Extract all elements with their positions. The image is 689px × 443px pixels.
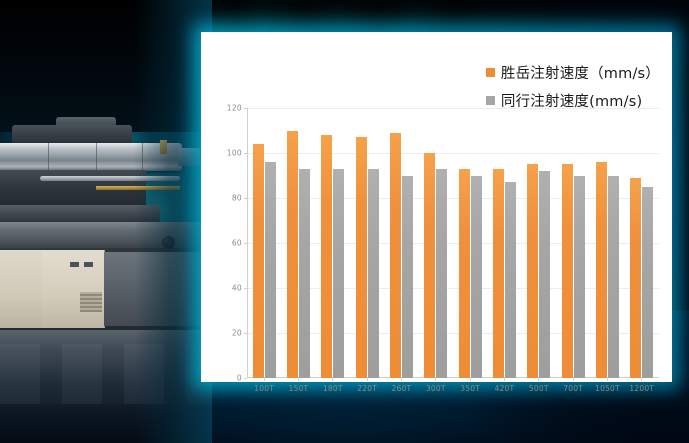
- x-tick-label: 420T: [487, 384, 521, 393]
- x-tick-mark: [332, 378, 333, 381]
- x-tick-label: 300T: [419, 384, 453, 393]
- bar-peer[interactable]: [402, 176, 413, 379]
- machine-indicator-2: [84, 262, 93, 267]
- bar-group: [562, 108, 585, 378]
- machine-vent-grille: [80, 292, 102, 312]
- bar-peer[interactable]: [642, 187, 653, 378]
- bar-peer[interactable]: [368, 169, 379, 378]
- bar-group: [596, 108, 619, 378]
- x-tick-mark: [264, 378, 265, 381]
- legend-swatch-orange: [486, 68, 495, 77]
- x-tick-label: 180T: [316, 384, 350, 393]
- y-tick-label: 60: [232, 239, 242, 248]
- machine-indicator-1: [70, 262, 79, 267]
- bar-group: [493, 108, 516, 378]
- injection-molding-machine-photo: [0, 0, 212, 443]
- bar-group: [253, 108, 276, 378]
- x-tick-mark: [367, 378, 368, 381]
- bar-shengyue[interactable]: [356, 137, 367, 378]
- x-tick-label: 1200T: [625, 384, 659, 393]
- x-tick-label: 150T: [281, 384, 315, 393]
- bar-group: [527, 108, 550, 378]
- bar-group: [321, 108, 344, 378]
- bar-peer[interactable]: [539, 171, 550, 378]
- x-tick-label: 260T: [384, 384, 418, 393]
- bar-peer[interactable]: [574, 176, 585, 379]
- y-tick-label: 0: [237, 374, 242, 383]
- x-axis-tick-marks: [247, 378, 659, 381]
- x-tick-mark: [435, 378, 436, 381]
- bar-peer[interactable]: [265, 162, 276, 378]
- x-tick-mark: [538, 378, 539, 381]
- bar-group: [424, 108, 447, 378]
- x-tick-label: 500T: [522, 384, 556, 393]
- x-tick-label: 350T: [453, 384, 487, 393]
- bar-shengyue[interactable]: [390, 133, 401, 378]
- bar-group: [356, 108, 379, 378]
- legend-swatch-gray: [486, 96, 495, 105]
- bar-peer[interactable]: [299, 169, 310, 378]
- x-tick-mark: [641, 378, 642, 381]
- y-tick-label: 20: [232, 329, 242, 338]
- bar-group: [630, 108, 653, 378]
- x-tick-mark: [573, 378, 574, 381]
- screenshot-stage: 胜岳注射速度（mm/s） 同行注射速度(mm/s) 02040608010012…: [0, 0, 689, 443]
- bar-peer[interactable]: [608, 176, 619, 379]
- bar-shengyue[interactable]: [596, 162, 607, 378]
- bar-shengyue[interactable]: [630, 178, 641, 378]
- y-tick-label: 80: [232, 194, 242, 203]
- y-tick-label: 120: [227, 104, 242, 113]
- x-tick-label: 1050T: [590, 384, 624, 393]
- bar-shengyue[interactable]: [459, 169, 470, 378]
- bar-peer[interactable]: [436, 169, 447, 378]
- legend-item-series-1[interactable]: 胜岳注射速度（mm/s）: [486, 62, 660, 83]
- bar-shengyue[interactable]: [424, 153, 435, 378]
- x-axis-labels: 100T150T180T220T260T300T350T420T500T700T…: [247, 384, 659, 393]
- x-tick-mark: [401, 378, 402, 381]
- bar-series-container: [247, 108, 659, 378]
- bar-shengyue[interactable]: [321, 135, 332, 378]
- bar-group: [287, 108, 310, 378]
- chart-panel: 胜岳注射速度（mm/s） 同行注射速度(mm/s) 02040608010012…: [201, 32, 672, 382]
- x-tick-mark: [470, 378, 471, 381]
- y-tick-label: 40: [232, 284, 242, 293]
- bar-peer[interactable]: [505, 182, 516, 378]
- bar-group: [390, 108, 413, 378]
- y-tick-label: 100: [227, 149, 242, 158]
- x-tick-mark: [607, 378, 608, 381]
- bar-shengyue[interactable]: [493, 169, 504, 378]
- bar-shengyue[interactable]: [562, 164, 573, 378]
- bar-group: [459, 108, 482, 378]
- chart-legend: 胜岳注射速度（mm/s） 同行注射速度(mm/s): [486, 62, 660, 111]
- bar-peer[interactable]: [333, 169, 344, 378]
- plot-area: 020406080100120: [247, 108, 659, 378]
- machine-cabinet-left: [0, 250, 43, 328]
- x-tick-label: 220T: [350, 384, 384, 393]
- x-tick-mark: [504, 378, 505, 381]
- x-tick-label: 100T: [247, 384, 281, 393]
- bar-shengyue[interactable]: [253, 144, 264, 378]
- bar-shengyue[interactable]: [527, 164, 538, 378]
- x-tick-mark: [298, 378, 299, 381]
- legend-label-series-1: 胜岳注射速度（mm/s）: [501, 62, 660, 83]
- bar-peer[interactable]: [471, 176, 482, 379]
- x-tick-label: 700T: [556, 384, 590, 393]
- bar-shengyue[interactable]: [287, 131, 298, 379]
